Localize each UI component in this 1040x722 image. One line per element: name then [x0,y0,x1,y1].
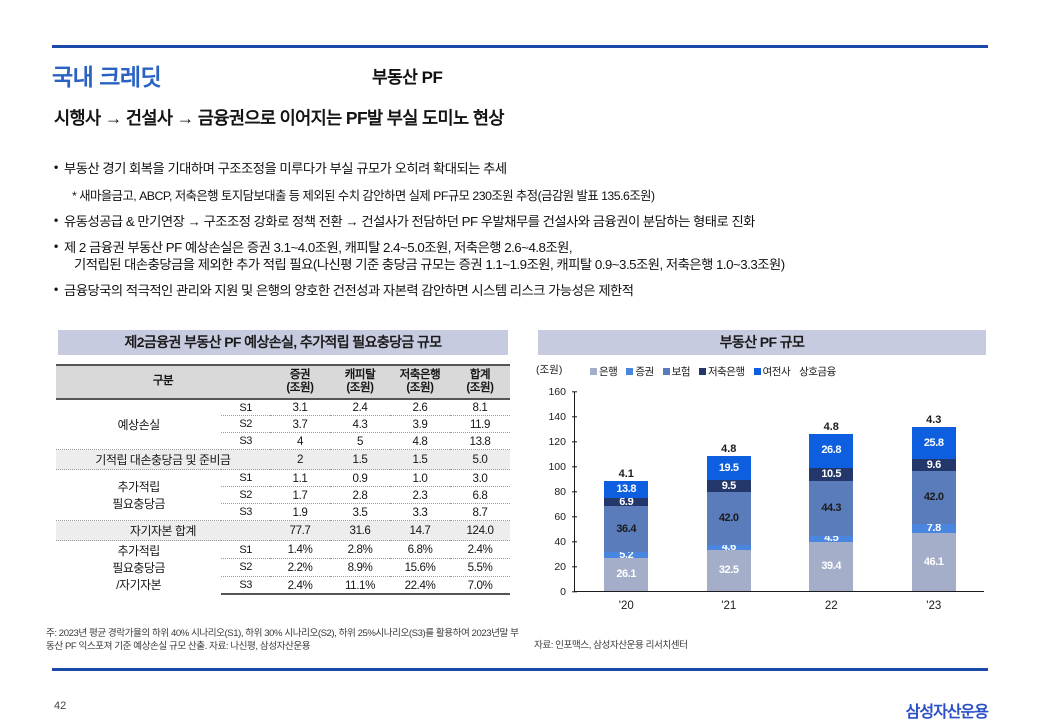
bar-segment-value-label: 39.4 [821,561,841,572]
scenario-cell: S3 [221,433,270,450]
legend-item-여전사[interactable]: 여전사 [754,364,790,379]
row-label-equity-total: 자기자본 합계 [56,521,270,541]
cell-value: 2.6 [390,399,450,416]
cell-value: 8.1 [450,399,510,416]
cell-value: 2.8% [330,541,390,559]
header-top-rule [52,45,988,48]
y-axis-tick-label: 140 [528,411,566,423]
bullet-item: • 금융당국의 적극적인 관리와 지원 및 은행의 양호한 건전성과 자본력 감… [54,282,1004,299]
bar-segment-은행: 32.5 [707,550,751,591]
table-row: 예상손실 S1 3.1 2.4 2.6 8.1 [56,399,510,416]
cell-value: 4.3 [330,416,390,433]
table-row: 자기자본 합계 77.7 31.6 14.7 124.0 [56,521,510,541]
pf-size-chart: (조원) 은행증권보험저축은행여전사상호금융 02040608010012014… [528,362,993,627]
chart-panel-title: 부동산 PF 규모 [538,330,986,355]
cell-value: 4 [270,433,330,450]
cell-value: 1.5 [330,450,390,470]
y-axis-tick-label: 0 [528,586,566,598]
row-label-provision-to-equity: 추가적립 필요충당금 /자기자본 [56,541,221,595]
legend-swatch-icon [754,368,761,375]
y-axis-tick-label: 20 [528,561,566,573]
page-title: 시행사 → 건설사 → 금융권으로 이어지는 PF발 부실 도미노 현상 [54,105,504,130]
legend-label: 여전사 [763,364,790,379]
cell-value: 2.4 [330,399,390,416]
scenario-cell: S3 [221,576,270,594]
bar-group[interactable]: 39.44.544.310.526.84.822 [809,434,853,591]
scenario-cell: S2 [221,559,270,577]
cell-value: 8.7 [450,504,510,521]
cell-value: 2.8 [330,487,390,504]
y-axis-tick-label: 100 [528,461,566,473]
y-axis-tick-label: 160 [528,386,566,398]
cell-value: 3.0 [450,470,510,487]
bullet-text: 금융당국의 적극적인 관리와 지원 및 은행의 양호한 건전성과 자본력 감안하… [64,282,1004,299]
col-header-total: 합계 (조원) [450,365,510,399]
chart-legend: 은행증권보험저축은행여전사상호금융 [590,364,836,379]
cell-value: 1.5 [390,450,450,470]
chart-source-note: 자료: 인포맥스, 삼성자산운용 리서치센터 [534,640,954,653]
cell-value: 31.6 [330,521,390,541]
brand-logo: 삼성자산운용 [906,698,988,722]
legend-item-증권[interactable]: 증권 [626,364,653,379]
bar-segment-여전사: 13.8 [604,481,648,498]
bar-segment-저축은행: 9.6 [912,459,956,471]
cell-value: 5.5% [450,559,510,577]
bar-segment-value-label: 6.9 [619,497,633,508]
cell-value: 3.9 [390,416,450,433]
scenario-cell: S1 [221,541,270,559]
cell-value: 5.0 [450,450,510,470]
bullet-continuation: 기적립된 대손충당금을 제외한 추가 적립 필요(나신평 기준 충당금 규모는 … [54,256,1004,273]
bar-segment-value-label: 19.5 [719,463,739,474]
cell-value: 1.0 [390,470,450,487]
bullet-text: 부동산 경기 회복을 기대하며 구조조정을 미루다가 부실 규모가 오히려 확대… [64,160,1004,177]
row-label-additional-provision: 추가적립 필요충당금 [56,470,221,521]
bar-segment-증권: 4.5 [809,536,853,542]
cell-value: 6.8% [390,541,450,559]
bullet-list: • 부동산 경기 회복을 기대하며 구조조정을 미루다가 부실 규모가 오히려 … [54,160,1004,308]
cell-value: 1.9 [270,504,330,521]
bar-segment-은행: 46.1 [912,533,956,591]
table-header-row: 구분 증권 (조원) 캐피탈 (조원) 저축은행 (조원) 합계 (조원) [56,365,510,399]
bar-segment-저축은행: 9.5 [707,480,751,492]
col-header-capital-name: 캐피탈 [332,369,388,382]
bar-group[interactable]: 46.17.842.09.625.84.3'23 [912,427,956,591]
legend-swatch-icon [699,368,706,375]
cell-value: 2.2% [270,559,330,577]
legend-item-은행[interactable]: 은행 [590,364,617,379]
y-axis-tick-label: 120 [528,436,566,448]
cell-value: 8.9% [330,559,390,577]
bar-segment-저축은행: 10.5 [809,468,853,481]
row-label-existing-provision: 기적립 대손충당금 및 준비금 [56,450,270,470]
cell-value: 2.3 [390,487,450,504]
cell-value: 11.9 [450,416,510,433]
cell-value: 3.5 [330,504,390,521]
bar-segment-value-label: 9.5 [722,481,736,492]
bullet-text: 유동성공급 & 만기연장 → 구조조정 강화로 정책 전환 → 건설사가 전담하… [64,213,1004,230]
col-header-total-name: 합계 [452,369,508,382]
scenario-cell: S2 [221,416,270,433]
cell-value: 77.7 [270,521,330,541]
row-label-line2: 필요충당금 [58,495,219,512]
bar-segment-여전사: 26.8 [809,434,853,468]
bar-segment-여전사: 19.5 [707,456,751,480]
cell-value: 124.0 [450,521,510,541]
bar-segment-은행: 39.4 [809,542,853,591]
bar-segment-저축은행: 6.9 [604,498,648,507]
y-axis-tick-label: 60 [528,511,566,523]
cell-value: 13.8 [450,433,510,450]
bar-group[interactable]: 26.15.236.46.913.84.1'20 [604,481,648,592]
col-header-savingsbank-unit: (조원) [392,382,448,395]
y-axis-tick-label: 80 [528,486,566,498]
row-label-line1: 추가적립 [58,478,219,495]
bullet-subnote: * 새마을금고, ABCP, 저축은행 토지담보대출 등 제외된 수치 감안하면… [72,186,1004,204]
legend-item-보험[interactable]: 보험 [663,364,690,379]
cell-value: 2.4% [270,576,330,594]
bar-segment-증권: 4.6 [707,545,751,551]
bar-segment-은행: 26.1 [604,558,648,591]
bar-segment-보험: 42.0 [707,492,751,545]
col-header-total-unit: (조원) [452,382,508,395]
table-row: 추가적립 필요충당금 /자기자본 S1 1.4% 2.8% 6.8% 2.4% [56,541,510,559]
legend-label: 은행 [599,364,617,379]
cell-value: 1.4% [270,541,330,559]
row-label-line3: /자기자본 [58,576,219,593]
bullet-item: • 부동산 경기 회복을 기대하며 구조조정을 미루다가 부실 규모가 오히려 … [54,160,1004,177]
bullet-indent-spacer [54,256,64,271]
col-header-capital: 캐피탈 (조원) [330,365,390,399]
col-header-category: 구분 [56,365,270,399]
legend-label: 저축은행 [708,364,745,379]
cell-value: 3.1 [270,399,330,416]
table-body: 예상손실 S1 3.1 2.4 2.6 8.1 S2 3.7 4.3 3.9 1… [56,399,510,595]
scenario-cell: S1 [221,470,270,487]
bar-segment-증권: 5.2 [604,552,648,559]
cell-value: 6.8 [450,487,510,504]
table-row: 기적립 대손충당금 및 준비금 2 1.5 1.5 5.0 [56,450,510,470]
pf-loss-table: 구분 증권 (조원) 캐피탈 (조원) 저축은행 (조원) 합계 (조원) 예상… [56,364,510,595]
cell-value: 2.4% [450,541,510,559]
bar-segment-value-label: 42.0 [719,513,739,524]
bar-segment-value-label: 26.1 [616,569,636,580]
cell-value: 15.6% [390,559,450,577]
bar-segment-value-label: 36.4 [616,524,636,535]
bar-top-value-label: 4.3 [926,414,941,427]
x-axis-tick-label: '20 [619,600,634,612]
section-title: 국내 크레딧 [52,58,161,92]
bullet-text-continued: 기적립된 대손충당금을 제외한 추가 적립 필요(나신평 기준 충당금 규모는 … [74,256,1004,273]
table-header: 구분 증권 (조원) 캐피탈 (조원) 저축은행 (조원) 합계 (조원) [56,365,510,399]
legend-label: 증권 [635,364,653,379]
y-axis-tick-label: 40 [528,536,566,548]
bar-segment-value-label: 7.8 [927,523,941,534]
bullet-dot-icon: • [54,213,64,228]
x-axis-tick-label: '23 [926,600,941,612]
col-header-securities-unit: (조원) [272,382,328,395]
cell-value: 0.9 [330,470,390,487]
cell-value: 4.8 [390,433,450,450]
cell-value: 5 [330,433,390,450]
bar-segment-value-label: 44.3 [821,503,841,514]
cell-value: 14.7 [390,521,450,541]
bullet-text: 제 2 금융권 부동산 PF 예상손실은 증권 3.1~4.0조원, 캐피탈 2… [64,239,1004,256]
x-axis-tick-label: '21 [721,600,736,612]
bar-segment-value-label: 10.5 [821,469,841,480]
bar-top-value-label: 4.8 [721,443,736,456]
scenario-cell: S2 [221,487,270,504]
bar-segment-보험: 42.0 [912,471,956,524]
slide-topic: 부동산 PF [372,63,442,88]
cell-value: 2 [270,450,330,470]
bar-group[interactable]: 32.54.642.09.519.54.8'21 [707,456,751,591]
legend-item-상호금융[interactable]: 상호금융 [799,364,836,379]
cell-value: 22.4% [390,576,450,594]
bar-segment-증권: 7.8 [912,524,956,534]
bullet-dot-icon: • [54,160,64,175]
bar-top-value-label: 4.1 [619,468,634,481]
legend-item-저축은행[interactable]: 저축은행 [699,364,745,379]
col-header-securities: 증권 (조원) [270,365,330,399]
bullet-dot-icon: • [54,239,64,254]
bullet-item: • 제 2 금융권 부동산 PF 예상손실은 증권 3.1~4.0조원, 캐피탈… [54,239,1004,256]
x-axis-tick-label: 22 [825,600,838,612]
bar-segment-value-label: 42.0 [924,492,944,503]
legend-swatch-icon [590,368,597,375]
cell-value: 11.1% [330,576,390,594]
scenario-cell: S3 [221,504,270,521]
legend-label: 보험 [672,364,690,379]
scenario-cell: S1 [221,399,270,416]
cell-value: 1.1 [270,470,330,487]
legend-swatch-icon [626,368,633,375]
chart-plot-area: 26.15.236.46.913.84.1'2032.54.642.09.519… [574,392,984,592]
bar-segment-value-label: 13.8 [616,484,636,495]
cell-value: 7.0% [450,576,510,594]
footer-rule [52,668,988,671]
bullet-dot-icon: • [54,282,64,297]
bar-segment-value-label: 9.6 [927,460,941,471]
bar-top-value-label: 4.8 [824,421,839,434]
page-number: 42 [54,700,66,712]
row-label-expected-loss: 예상손실 [56,399,221,450]
row-label-line2: 필요충당금 [58,559,219,576]
legend-label: 상호금융 [799,364,836,379]
cell-value: 3.7 [270,416,330,433]
table-source-note: 주: 2023년 평균 경락가율의 하위 40% 시나리오(S1), 하위 30… [46,628,522,654]
row-label-line1: 추가적립 [58,542,219,559]
col-header-savingsbank: 저축은행 (조원) [390,365,450,399]
bar-segment-보험: 44.3 [809,481,853,536]
col-header-savingsbank-name: 저축은행 [392,369,448,382]
bar-segment-value-label: 32.5 [719,565,739,576]
bar-segment-보험: 36.4 [604,506,648,552]
bar-segment-value-label: 46.1 [924,557,944,568]
table-panel-title: 제2금융권 부동산 PF 예상손실, 추가적립 필요충당금 규모 [58,330,508,355]
col-header-securities-name: 증권 [272,369,328,382]
bar-segment-여전사: 25.8 [912,427,956,459]
chart-y-axis: 020406080100120140160 [528,386,572,592]
cell-value: 1.7 [270,487,330,504]
col-header-capital-unit: (조원) [332,382,388,395]
chart-unit-label: (조원) [536,362,562,377]
bar-segment-value-label: 25.8 [924,438,944,449]
bullet-item: • 유동성공급 & 만기연장 → 구조조정 강화로 정책 전환 → 건설사가 전… [54,213,1004,230]
legend-swatch-icon [663,368,670,375]
cell-value: 3.3 [390,504,450,521]
table-row: 추가적립 필요충당금 S1 1.1 0.9 1.0 3.0 [56,470,510,487]
bar-segment-value-label: 26.8 [821,445,841,456]
